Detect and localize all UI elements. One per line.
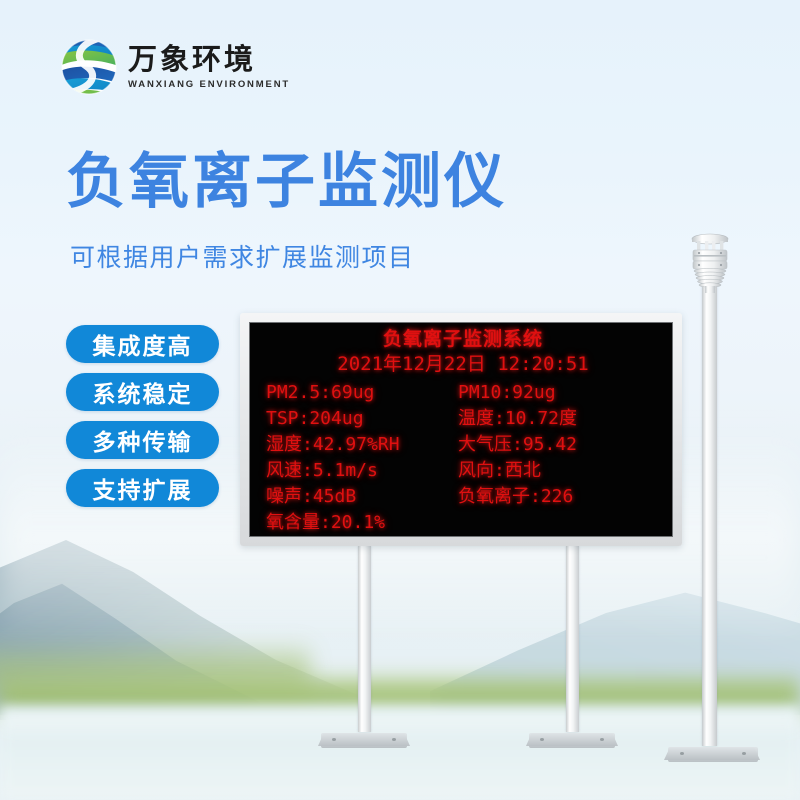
feature-badge: 系统稳定 (66, 373, 219, 411)
reading-negative-oxygen-ion: 负氧离子:226 (458, 484, 660, 510)
globe-swirl-logo-icon (60, 34, 118, 100)
bolt-icon (680, 752, 684, 755)
reading-wind-direction: 风向:西北 (458, 458, 660, 484)
led-datetime: 2021年12月22日 12:20:51 (266, 352, 660, 377)
feature-badge-label: 多种传输 (93, 423, 193, 457)
reading-humidity: 湿度:42.97%RH (266, 432, 452, 458)
page-title: 负氧离子监测仪 (66, 152, 507, 212)
ultrasonic-weather-sensor-icon (683, 231, 737, 293)
feature-badge-label: 系统稳定 (93, 375, 193, 409)
reading-pressure: 大气压:95.42 (458, 432, 660, 458)
bolt-icon (392, 738, 396, 741)
mounting-mast-icon (702, 286, 717, 746)
bolt-icon (600, 738, 604, 741)
bolt-icon (742, 752, 746, 755)
support-pole-icon (358, 546, 371, 732)
led-screen: 负氧离子监测系统 2021年12月22日 12:20:51 PM2.5:69ug… (249, 322, 673, 537)
brand-name-cn: 万象环境 (128, 44, 290, 75)
brand-name-en: WANXIANG ENVIRONMENT (128, 79, 290, 90)
reading-tsp: TSP:204ug (266, 406, 452, 432)
led-title: 负氧离子监测系统 (266, 329, 660, 351)
reading-temperature: 温度:10.72度 (458, 406, 660, 432)
bolt-icon (540, 738, 544, 741)
brand-logo: 万象环境 WANXIANG ENVIRONMENT (60, 34, 290, 100)
feature-badge: 集成度高 (66, 325, 219, 363)
reading-pm25: PM2.5:69ug (266, 380, 452, 406)
feature-badge: 多种传输 (66, 421, 219, 459)
page-subtitle: 可根据用户需求扩展监测项目 (70, 238, 415, 274)
reading-oxygen-content: 氧含量:20.1% (266, 510, 452, 536)
support-pole-icon (566, 546, 579, 732)
led-readings-grid: PM2.5:69ug PM10:92ug TSP:204ug 温度:10.72度… (266, 380, 660, 537)
reading-wind-speed: 风速:5.1m/s (266, 458, 452, 484)
reading-pm10: PM10:92ug (458, 380, 660, 406)
led-content: 负氧离子监测系统 2021年12月22日 12:20:51 PM2.5:69ug… (250, 323, 672, 536)
feature-badge: 支持扩展 (66, 469, 219, 507)
product-poster: 万象环境 WANXIANG ENVIRONMENT 负氧离子监测仪 可根据用户需… (0, 0, 800, 800)
led-display-board: 负氧离子监测系统 2021年12月22日 12:20:51 PM2.5:69ug… (240, 313, 682, 546)
feature-badge-label: 支持扩展 (93, 471, 193, 505)
bolt-icon (332, 738, 336, 741)
reading-noise: 噪声:45dB (266, 484, 452, 510)
feature-badge-label: 集成度高 (93, 327, 193, 361)
feature-badge-list: 集成度高 系统稳定 多种传输 支持扩展 (66, 325, 219, 507)
